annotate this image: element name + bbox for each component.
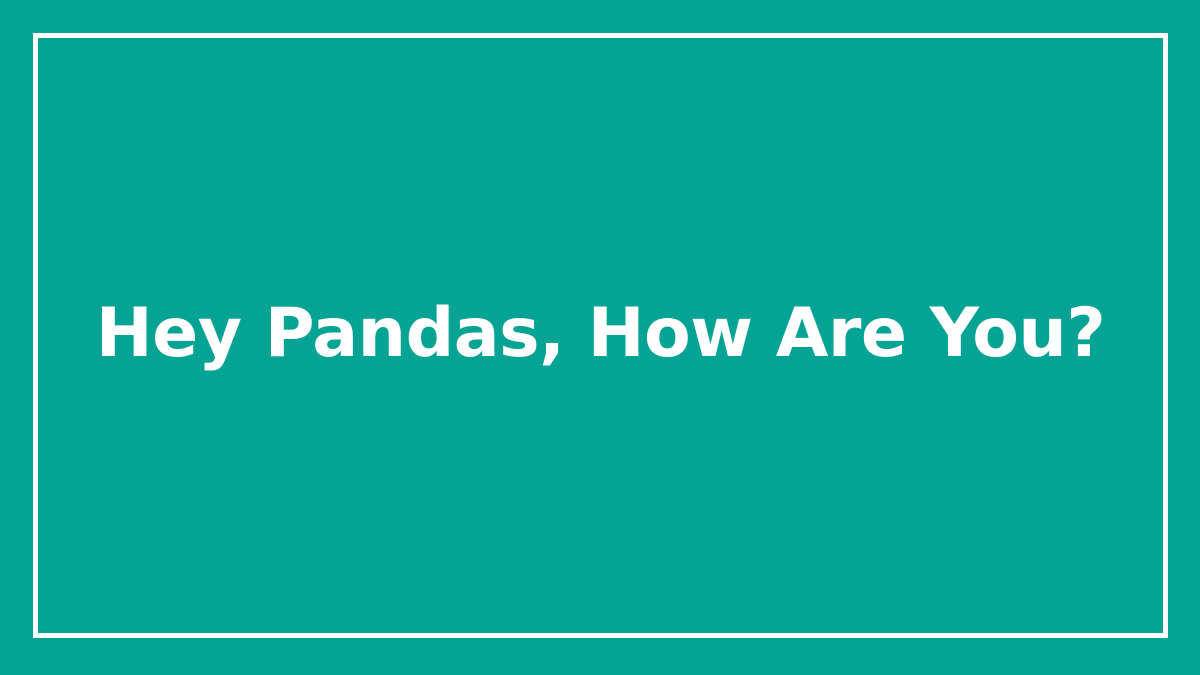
poster-frame-border: Hey Pandas, How Are You? <box>33 33 1168 638</box>
page-title: Hey Pandas, How Are You? <box>38 297 1163 370</box>
poster-canvas: Hey Pandas, How Are You? <box>0 0 1200 675</box>
